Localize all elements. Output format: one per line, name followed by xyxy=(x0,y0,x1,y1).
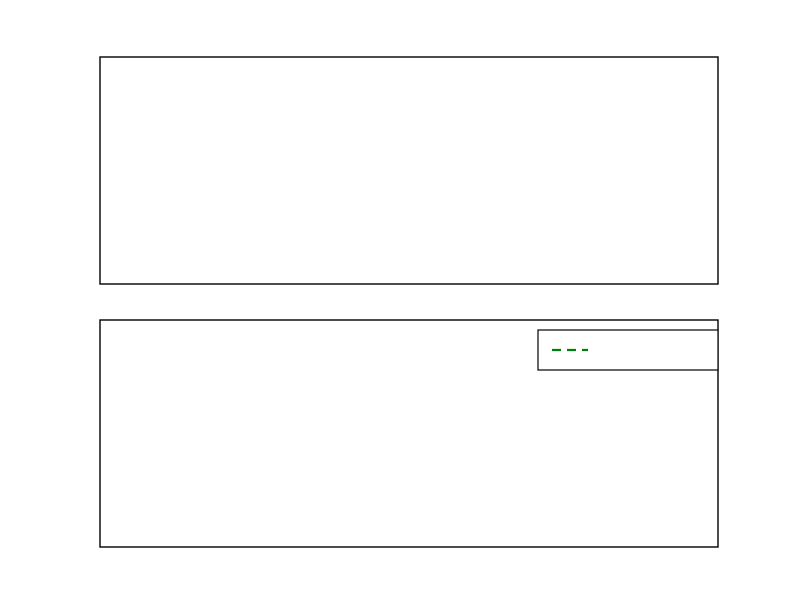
legend[interactable] xyxy=(538,330,718,370)
differential-histogram-axes xyxy=(100,57,718,284)
figure-canvas xyxy=(0,0,800,600)
cumulative-histogram-axes xyxy=(0,0,718,547)
matplotlib-figure xyxy=(0,0,800,600)
legend-frame xyxy=(538,330,718,370)
top-axes-frame xyxy=(100,57,718,284)
